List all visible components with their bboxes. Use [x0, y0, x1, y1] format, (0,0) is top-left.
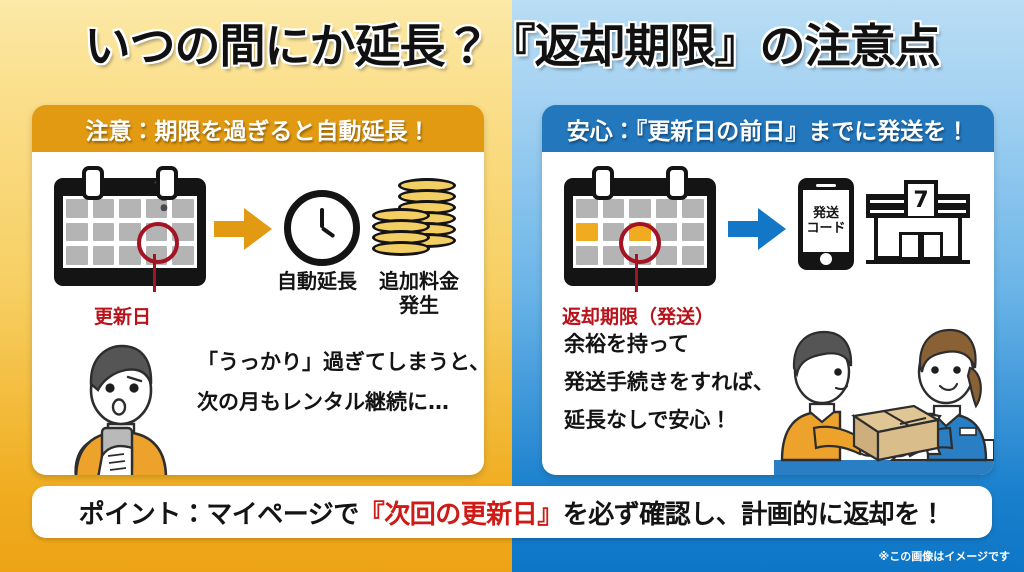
store-door-right	[921, 232, 943, 260]
convenience-store-icon: 7	[866, 180, 970, 264]
calendar-cell	[66, 223, 88, 242]
calendar-cell	[66, 246, 88, 265]
caption-extra-fee-line1: 追加料金	[364, 270, 474, 292]
handing-parcel-to-clerk-icon	[774, 320, 994, 475]
calendar-cell-highlight	[576, 223, 598, 242]
infographic-root: いつの間にか延長？『返却期限』の注意点 注意：期限を過ぎると自動延長！	[0, 0, 1024, 572]
store-ground-line	[866, 260, 970, 264]
calendar-cell	[656, 199, 678, 218]
calendar-cell	[93, 199, 115, 218]
warning-body-line1: 「うっかり」過ぎてしまうと、	[197, 348, 484, 378]
footer-point-bar: ポイント：マイページで『次回の更新日』を必ず確認し、計画的に返却を！	[32, 486, 992, 538]
footer-prefix: ポイント：マイページで	[79, 500, 359, 530]
safe-icon-row: 返却期限（発送） 発送 コード	[542, 152, 994, 327]
calendar-ring-left	[82, 166, 104, 200]
phone-speaker	[816, 184, 836, 187]
calendar-cell	[576, 246, 598, 265]
calendar-cell	[576, 199, 598, 218]
phone-screen-line1: 発送	[813, 206, 839, 221]
calendar-cell	[93, 246, 115, 265]
store-door-left	[899, 232, 921, 260]
panel-safe-header-text: 安心：『更新日の前日』までに発送を！	[567, 112, 970, 146]
footer-text: ポイント：マイページで『次回の更新日』を必ず確認し、計画的に返却を！	[79, 494, 946, 531]
calendar-ring-right	[156, 166, 178, 200]
safe-body-line2: 発送手続きをすれば、	[564, 368, 774, 398]
coin	[372, 241, 430, 256]
calendar-ring-right	[666, 166, 688, 200]
calendar-cell	[93, 223, 115, 242]
panel-warning: 注意：期限を過ぎると自動延長！	[32, 105, 484, 475]
calendar-cell	[66, 199, 88, 218]
calendar-cell	[682, 223, 704, 242]
panel-warning-header-text: 注意：期限を過ぎると自動延長！	[86, 112, 431, 146]
calendar-red-circle-marker	[137, 222, 179, 264]
calendar-cell	[119, 199, 141, 218]
panel-safe: 安心：『更新日の前日』までに発送を！	[542, 105, 994, 475]
arrow-right-icon	[214, 208, 272, 250]
panel-warning-body: 更新日 自動延長	[32, 152, 484, 475]
caption-auto-extension: 自動延長	[272, 270, 362, 292]
image-disclaimer: ※この画像はイメージです	[879, 548, 1010, 564]
phone-home-button	[820, 253, 832, 265]
title-band: いつの間にか延長？『返却期限』の注意点	[0, 0, 1024, 92]
calendar-cell	[682, 199, 704, 218]
calendar-cell	[629, 199, 651, 218]
calendar-cell	[682, 246, 704, 265]
calendar-cell	[603, 199, 625, 218]
calendar-due-icon	[564, 166, 716, 286]
coins-icon	[372, 178, 462, 264]
calendar-marker-stem	[635, 254, 638, 292]
store-sign-number: 7	[908, 184, 934, 216]
confused-man-with-phone-icon	[46, 328, 196, 475]
panel-warning-header: 注意：期限を過ぎると自動延長！	[32, 105, 484, 152]
calendar-marker-label-renewal: 更新日	[94, 302, 151, 329]
warning-body-line2: 次の月もレンタル継続に…	[197, 388, 449, 418]
clock-icon	[284, 190, 360, 266]
warning-icon-row: 更新日 自動延長	[32, 152, 484, 327]
panel-safe-body: 返却期限（発送） 発送 コード	[542, 152, 994, 475]
panel-safe-header: 安心：『更新日の前日』までに発送を！	[542, 105, 994, 152]
smartphone-icon: 発送 コード	[798, 178, 854, 270]
clock-hand-minute	[320, 208, 324, 228]
phone-screen: 発送 コード	[803, 190, 849, 252]
calendar-marker-stem	[153, 254, 156, 292]
calendar-marker-label-due: 返却期限（発送）	[562, 302, 714, 329]
calendar-red-circle-marker	[619, 222, 661, 264]
arrow-right-icon	[728, 208, 786, 250]
page-title: いつの間にか延長？『返却期限』の注意点	[85, 23, 940, 69]
phone-screen-line2: コード	[806, 221, 845, 236]
footer-emphasis: 『次回の更新日』	[359, 500, 563, 530]
footer-suffix: を必ず確認し、計画的に返却を！	[563, 500, 946, 530]
caption-extra-fee-line2: 発生	[364, 294, 474, 316]
safe-body-line1: 余裕を持って	[564, 330, 689, 360]
safe-body-line3: 延長なしで安心！	[564, 406, 731, 436]
calendar-ring-left	[592, 166, 614, 200]
clock-hand-hour	[321, 226, 336, 238]
